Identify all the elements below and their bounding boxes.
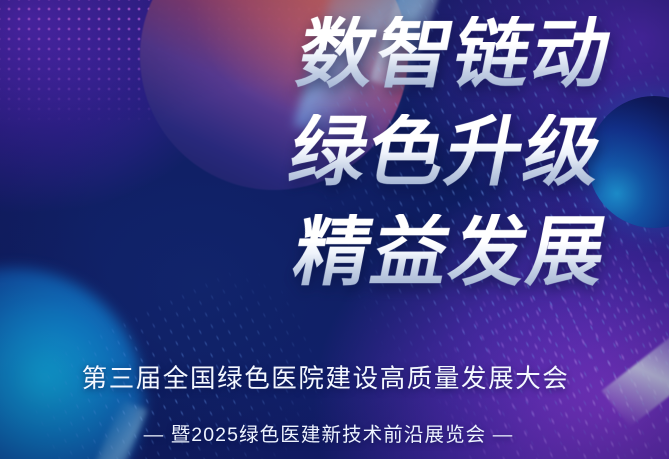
conference-subtitle: 第三届全国绿色医院建设高质量发展大会 [0, 358, 669, 395]
headline-line-2: 绿色升级 [284, 114, 611, 190]
headline-line-3: 精益发展 [288, 214, 615, 290]
exhibition-tagline: — 暨2025绿色医建新技术前沿展览会 — [0, 418, 669, 447]
conference-poster: 数智链动 绿色升级 精益发展 第三届全国绿色医院建设高质量发展大会 — 暨202… [0, 0, 669, 459]
poster-content: 数智链动 绿色升级 精益发展 第三届全国绿色医院建设高质量发展大会 — 暨202… [0, 0, 669, 459]
headline-line-1: 数智链动 [292, 16, 619, 92]
